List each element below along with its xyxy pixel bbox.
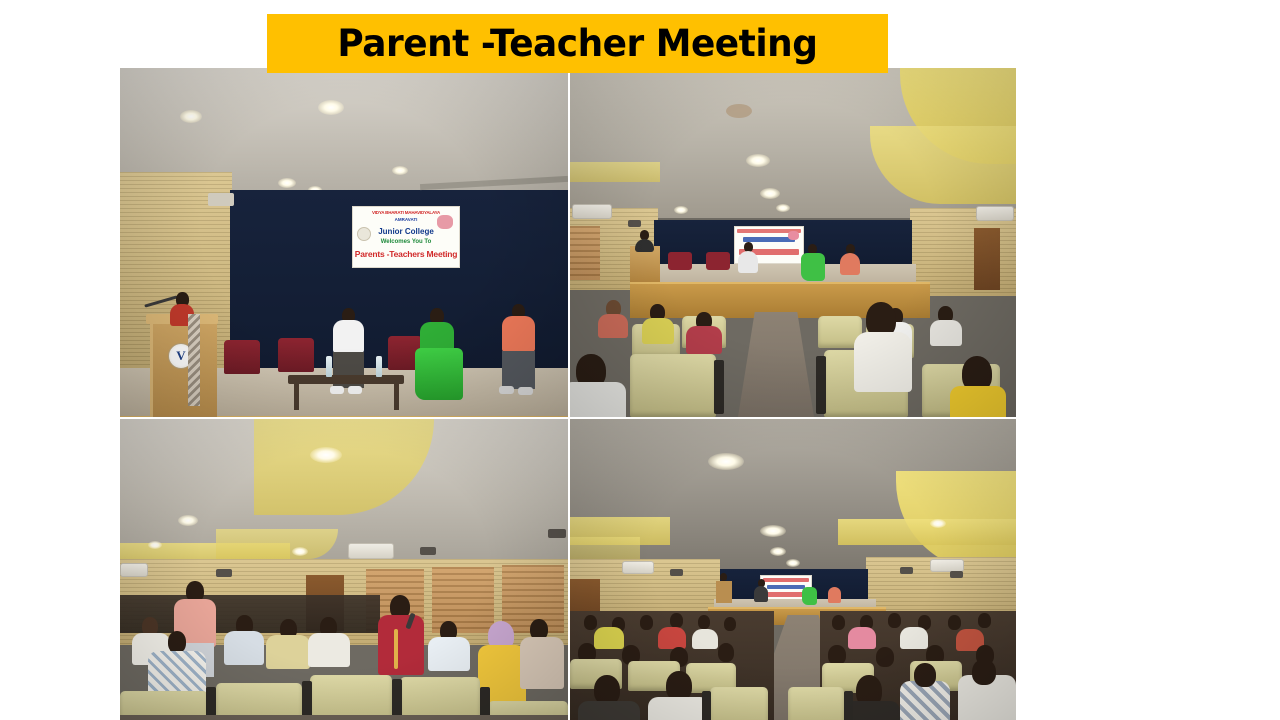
- ac-unit-icon: [572, 204, 612, 219]
- centre-aisle: [738, 312, 814, 417]
- photo-auditorium-wide: [570, 68, 1016, 417]
- college-logo-icon: [357, 227, 371, 241]
- audience-torso: [658, 627, 686, 649]
- ceiling-light-icon: [392, 166, 408, 175]
- photo-audience-scene: [120, 419, 568, 720]
- exit-door: [974, 228, 1000, 290]
- stage-chair: [224, 340, 260, 374]
- banner-line: [743, 237, 795, 242]
- ceiling-light-icon: [746, 154, 770, 167]
- audience-torso: [308, 633, 350, 667]
- window-blind: [570, 226, 600, 280]
- ceiling-light-icon: [180, 110, 202, 123]
- panellist-shoe: [518, 387, 533, 395]
- panellist-shoe: [348, 386, 362, 394]
- ceiling-soffit: [570, 162, 660, 182]
- stage-chair: [668, 252, 692, 270]
- audience-torso: [930, 320, 962, 346]
- panellist-torso: [333, 320, 364, 353]
- panellist-legs: [502, 351, 535, 389]
- panellist-saree: [415, 348, 463, 400]
- seat-arm: [816, 356, 826, 414]
- audience-head: [640, 615, 653, 630]
- photo-audience-question: [120, 419, 568, 720]
- projector-icon: [900, 567, 913, 574]
- question-asker-torso: [378, 615, 424, 675]
- slide-root: Parent -Teacher Meeting: [0, 0, 1280, 720]
- ceiling-light-icon: [760, 525, 786, 537]
- panellist-torso: [738, 251, 758, 273]
- stage-chair: [278, 338, 314, 372]
- panellist-torso: [840, 253, 860, 275]
- venue-banner-line4: Welcomes You To: [353, 239, 459, 245]
- host-head: [720, 573, 727, 581]
- ceiling-light-icon: [278, 178, 296, 188]
- title-banner: Parent -Teacher Meeting: [267, 14, 888, 73]
- audience-torso: [266, 635, 310, 669]
- panellist-torso: [828, 587, 841, 603]
- audience-head: [670, 613, 683, 628]
- banner-line: [767, 585, 805, 589]
- audience-head: [972, 659, 996, 685]
- audience-torso: [428, 637, 470, 671]
- ac-unit-icon: [976, 206, 1014, 221]
- banner-graphic-icon: [788, 231, 799, 240]
- audience-torso: [686, 326, 722, 354]
- table-leg: [394, 382, 399, 410]
- audience-torso: [900, 627, 928, 649]
- seat-arm: [714, 360, 724, 414]
- photo-auditorium-rear: [570, 419, 1016, 720]
- audience-head: [718, 643, 734, 662]
- audience-head: [698, 615, 710, 629]
- projector-icon: [950, 571, 963, 578]
- audience-seat: [310, 675, 392, 720]
- podium: [150, 321, 217, 417]
- ceiling-soffit: [838, 519, 1016, 545]
- seat-arm: [392, 679, 402, 720]
- seat-arm: [702, 691, 711, 720]
- ac-unit-icon: [348, 543, 394, 559]
- audience-torso: [224, 631, 264, 665]
- ceiling-light-icon: [148, 541, 162, 549]
- audience-torso: [520, 637, 564, 689]
- projector-icon: [628, 220, 641, 227]
- ceiling-light-icon: [674, 206, 688, 214]
- audience-seat: [630, 354, 716, 417]
- ceiling-soffit: [570, 537, 640, 559]
- ceiling-light-icon: [708, 453, 744, 470]
- audience-torso: [692, 629, 718, 649]
- audience-head: [876, 647, 894, 667]
- ceiling-light-icon: [776, 204, 790, 212]
- projector-icon: [420, 547, 436, 555]
- audience-head: [978, 613, 991, 628]
- ceiling-light-icon: [178, 515, 198, 526]
- ceiling-light-icon: [318, 100, 344, 115]
- ceiling-light-icon: [786, 559, 800, 567]
- audience-torso: [598, 314, 628, 338]
- table-leg: [294, 382, 299, 410]
- stole: [394, 629, 398, 669]
- audience-head: [888, 613, 901, 628]
- projector-icon: [216, 569, 232, 577]
- panellist-torso: [801, 253, 825, 281]
- host-torso: [635, 239, 654, 252]
- banner-line: [763, 578, 809, 582]
- audience-head: [948, 615, 961, 630]
- ceiling-light-icon: [770, 547, 786, 556]
- photo-auditorium-rear-scene: [570, 419, 1016, 720]
- banner-graphic-icon: [437, 215, 453, 229]
- photo-stage-podium-panel: VIDYA BHARATI MAHAVIDYALAYA AMRAVATI Jun…: [120, 68, 568, 417]
- photo-stage-scene: VIDYA BHARATI MAHAVIDYALAYA AMRAVATI Jun…: [120, 68, 568, 417]
- audience-torso: [578, 701, 640, 720]
- audience-torso: [570, 382, 626, 417]
- seat-arm: [844, 691, 853, 720]
- ceiling-light-icon: [760, 188, 780, 199]
- audience-torso: [594, 627, 624, 649]
- audience-torso: [848, 627, 876, 649]
- projector-icon: [670, 569, 683, 576]
- ac-unit-icon: [120, 563, 148, 577]
- audience-seat: [710, 687, 768, 720]
- ac-unit-icon: [622, 561, 654, 574]
- page-title: Parent -Teacher Meeting: [337, 25, 817, 62]
- audience-seat: [400, 677, 480, 720]
- panellist-torso: [502, 316, 535, 352]
- panellist-torso: [754, 586, 768, 602]
- audience-head: [168, 631, 186, 653]
- ceiling-light-icon: [292, 547, 308, 556]
- panellist-torso: [802, 587, 817, 605]
- audience-head: [724, 617, 736, 631]
- audience-torso: [950, 386, 1006, 417]
- audience-torso: [642, 318, 674, 344]
- audience-head: [828, 645, 846, 665]
- audience-seat: [788, 687, 844, 720]
- audience-head: [914, 663, 936, 687]
- projector-icon: [548, 529, 566, 538]
- stage-table: [288, 375, 404, 384]
- audience-torso: [648, 697, 710, 720]
- ceiling-soffit: [216, 529, 338, 559]
- venue-banner-line5: Parents -Teachers Meeting: [353, 249, 459, 259]
- ceiling-light-icon: [930, 519, 946, 528]
- venue-banner: VIDYA BHARATI MAHAVIDYALAYA AMRAVATI Jun…: [352, 206, 460, 268]
- podium: [716, 581, 732, 603]
- audience-torso: [854, 332, 912, 392]
- audience-head: [832, 615, 845, 630]
- hall-floor: [120, 715, 568, 720]
- speaker-saree: [188, 314, 200, 406]
- photo-grid: VIDYA BHARATI MAHAVIDYALAYA AMRAVATI Jun…: [120, 68, 1016, 720]
- ceiling-light-icon: [310, 447, 342, 463]
- ceiling-stain: [726, 104, 752, 118]
- panellist-shoe: [330, 386, 344, 394]
- water-bottle: [326, 356, 332, 377]
- stage-chair: [706, 252, 730, 270]
- photo-auditorium-scene: [570, 68, 1016, 417]
- water-bottle: [376, 356, 382, 377]
- ac-vent-icon: [208, 193, 234, 206]
- panellist-shoe: [499, 386, 514, 394]
- audience-head: [584, 615, 597, 630]
